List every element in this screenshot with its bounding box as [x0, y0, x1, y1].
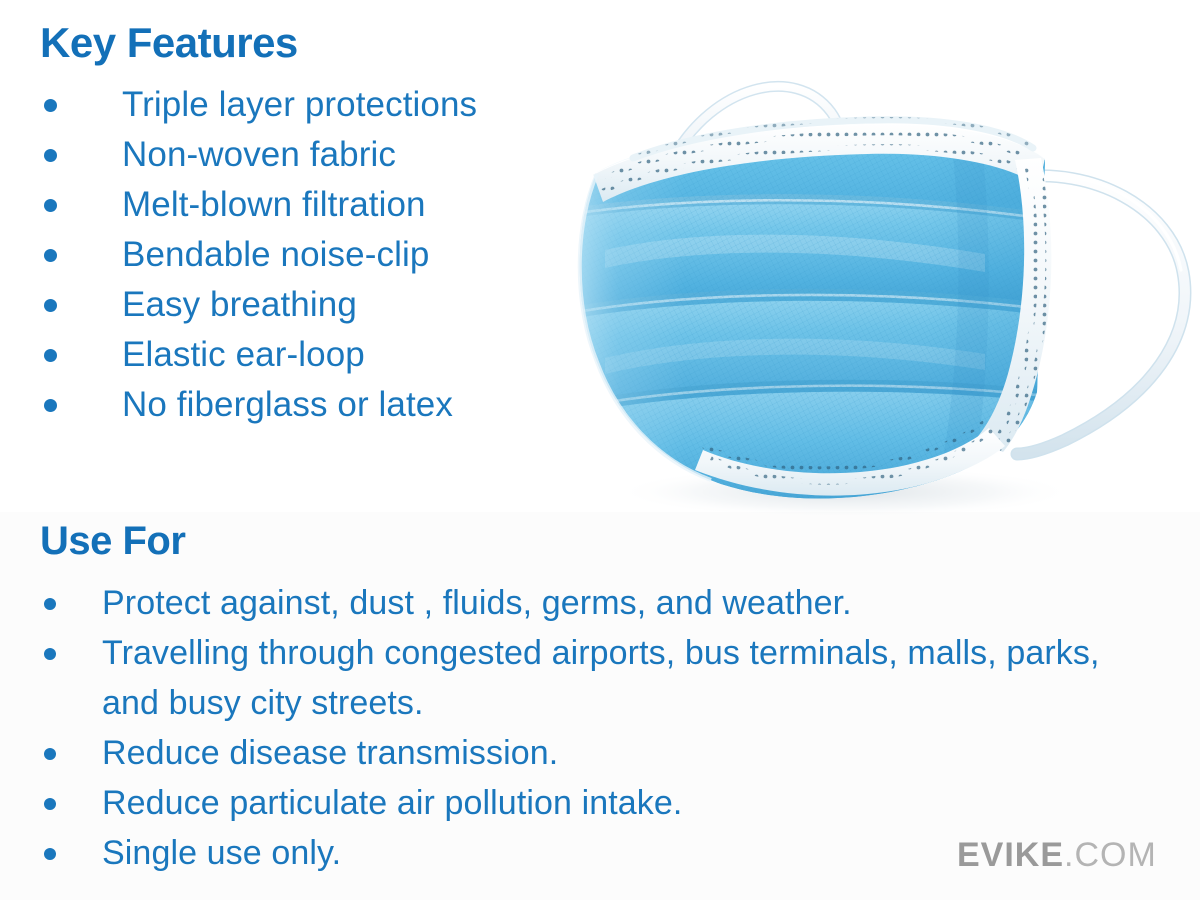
- bullet-icon: [44, 249, 57, 262]
- use-for-text: Single use only.: [102, 828, 341, 878]
- surgical-face-mask-image: [545, 40, 1200, 520]
- evike-logo: EVIKE.COM: [957, 836, 1157, 875]
- bullet-icon: [44, 748, 56, 760]
- bullet-icon: [44, 399, 57, 412]
- bullet-icon: [44, 598, 56, 610]
- bullet-icon: [44, 99, 57, 112]
- key-feature-text: Elastic ear-loop: [122, 330, 365, 380]
- list-item: Protect against, dust , fluids, germs, a…: [44, 578, 1104, 628]
- use-for-list: Protect against, dust , fluids, germs, a…: [44, 578, 1104, 878]
- use-for-text: Reduce disease transmission.: [102, 728, 558, 778]
- use-for-text: Protect against, dust , fluids, germs, a…: [102, 578, 852, 628]
- list-item: Easy breathing: [44, 280, 604, 330]
- bullet-icon: [44, 798, 56, 810]
- list-item: Travelling through congested airports, b…: [44, 628, 1104, 728]
- bullet-icon: [44, 648, 56, 660]
- key-feature-text: Triple layer protections: [122, 80, 477, 130]
- use-for-heading: Use For: [40, 521, 185, 561]
- key-feature-text: Bendable noise-clip: [122, 230, 429, 280]
- list-item: Bendable noise-clip: [44, 230, 604, 280]
- list-item: No fiberglass or latex: [44, 380, 604, 430]
- bullet-icon: [44, 299, 57, 312]
- bullet-icon: [44, 349, 57, 362]
- use-for-text: Reduce particulate air pollution intake.: [102, 778, 682, 828]
- evike-brand-text: EVIKE: [957, 836, 1064, 874]
- key-feature-text: No fiberglass or latex: [122, 380, 453, 430]
- bullet-icon: [44, 199, 57, 212]
- list-item: Non-woven fabric: [44, 130, 604, 180]
- list-item: Melt-blown filtration: [44, 180, 604, 230]
- product-info-slide: Key Features Triple layer protections No…: [0, 0, 1200, 900]
- key-features-list: Triple layer protections Non-woven fabri…: [44, 80, 604, 430]
- list-item: Reduce disease transmission.: [44, 728, 1104, 778]
- use-for-text: Travelling through congested airports, b…: [102, 628, 1104, 728]
- evike-tld-text: .COM: [1064, 836, 1157, 874]
- list-item: Reduce particulate air pollution intake.: [44, 778, 1104, 828]
- list-item: Single use only.: [44, 828, 1104, 878]
- list-item: Triple layer protections: [44, 80, 604, 130]
- bullet-icon: [44, 149, 57, 162]
- key-feature-text: Non-woven fabric: [122, 130, 396, 180]
- bullet-icon: [44, 848, 56, 860]
- key-features-heading: Key Features: [40, 22, 298, 64]
- list-item: Elastic ear-loop: [44, 330, 604, 380]
- key-feature-text: Melt-blown filtration: [122, 180, 426, 230]
- key-feature-text: Easy breathing: [122, 280, 357, 330]
